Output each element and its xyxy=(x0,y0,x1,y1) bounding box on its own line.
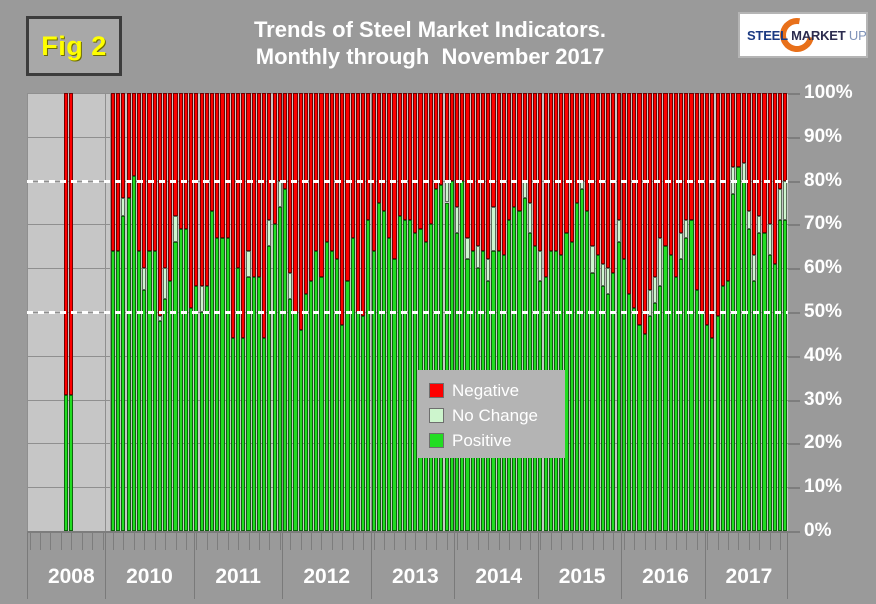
x-axis-minor-tick xyxy=(520,533,521,550)
bar-segment-negative xyxy=(340,93,344,325)
bar-segment-negative xyxy=(299,93,303,330)
y-axis-label: 70% xyxy=(804,213,842,235)
bar-segment-no-change xyxy=(491,207,495,251)
bar-segment-negative xyxy=(200,93,204,286)
bar-segment-positive xyxy=(304,294,308,531)
x-axis-minor-tick xyxy=(196,533,197,550)
bar-segment-negative xyxy=(585,93,589,211)
x-axis: 200820102011201220132014201520162017 xyxy=(27,531,788,604)
x-axis-year-separator xyxy=(282,533,283,599)
x-axis-minor-tick xyxy=(103,533,104,550)
bar-segment-positive xyxy=(288,299,292,531)
x-axis-minor-tick xyxy=(415,533,416,550)
bar-segment-no-change xyxy=(158,316,162,320)
bar-segment-negative xyxy=(111,93,115,251)
bar-segment-negative xyxy=(424,93,428,242)
logo-word-market: MARKET xyxy=(791,28,845,43)
bar-segment-no-change xyxy=(747,211,751,229)
bar-segment-positive xyxy=(575,203,579,532)
x-axis-year-separator xyxy=(371,533,372,599)
bar-segment-negative xyxy=(387,93,391,238)
y-axis-tick xyxy=(788,487,800,489)
logo-word-update: UPDATE xyxy=(849,28,868,43)
y-axis-tick xyxy=(788,400,800,402)
bar-segment-negative xyxy=(64,93,68,395)
bar-segment-positive xyxy=(684,238,688,531)
bar-segment-positive xyxy=(184,229,188,531)
x-axis-minor-tick xyxy=(707,533,708,550)
bar-segment-negative xyxy=(721,93,725,286)
x-axis-minor-tick xyxy=(655,533,656,550)
bar-segment-negative xyxy=(226,93,230,238)
bar-segment-negative xyxy=(439,93,443,185)
bar-segment-positive xyxy=(153,251,157,531)
bar-segment-negative xyxy=(351,93,355,238)
y-axis-tick xyxy=(788,181,800,183)
bar-segment-negative xyxy=(637,93,641,325)
bar-segment-positive xyxy=(132,176,136,531)
x-axis-minor-tick xyxy=(405,533,406,550)
bar-segment-negative xyxy=(153,93,157,251)
x-axis-minor-tick xyxy=(394,533,395,550)
bar-segment-negative xyxy=(559,93,563,255)
x-axis-year-separator xyxy=(194,533,195,599)
bar-segment-negative xyxy=(679,93,683,233)
bar-segment-positive xyxy=(64,395,68,531)
x-axis-year-separator xyxy=(105,533,106,599)
x-axis-year-label: 2016 xyxy=(642,565,689,589)
bar-segment-negative xyxy=(736,93,740,167)
bar-segment-negative xyxy=(194,93,198,286)
bar-segment-positive xyxy=(674,277,678,531)
bar-segment-negative xyxy=(137,93,141,251)
bar-segment-negative xyxy=(304,93,308,294)
x-axis-minor-tick xyxy=(530,533,531,550)
bar-segment-positive xyxy=(434,189,438,531)
x-axis-minor-tick xyxy=(321,533,322,550)
x-axis-minor-tick xyxy=(718,533,719,550)
bar-segment-positive xyxy=(762,233,766,531)
bar-segment-no-change xyxy=(121,198,125,216)
x-axis-year-separator xyxy=(27,533,28,599)
bar-segment-positive xyxy=(137,251,141,531)
x-axis-minor-tick xyxy=(207,533,208,550)
bar-segment-positive xyxy=(189,308,193,531)
bar-segment-negative xyxy=(283,93,287,189)
x-axis-minor-tick xyxy=(332,533,333,550)
bar-segment-negative xyxy=(319,93,323,277)
y-axis-label: 80% xyxy=(804,170,842,192)
bar-segment-positive xyxy=(622,259,626,531)
bar-segment-positive xyxy=(689,220,693,531)
bar-segment-negative xyxy=(669,93,673,255)
bar-segment-positive xyxy=(773,264,777,531)
y-axis-tick xyxy=(788,312,800,314)
bar-segment-negative xyxy=(366,93,370,220)
bar-segment-negative xyxy=(622,93,626,259)
x-axis-minor-tick xyxy=(363,533,364,550)
bar-segment-positive xyxy=(736,167,740,531)
bar-segment-positive xyxy=(366,220,370,531)
x-axis-minor-tick xyxy=(311,533,312,550)
bar-segment-negative xyxy=(293,93,297,312)
page-title: Trends of Steel Market Indicators. Month… xyxy=(150,16,710,70)
bar-segment-no-change xyxy=(163,268,167,299)
bar-segment-positive xyxy=(679,259,683,531)
bar-segment-negative xyxy=(168,93,172,281)
bar-segment-no-change xyxy=(246,251,250,277)
x-axis-minor-tick xyxy=(176,533,177,550)
bar-segment-no-change xyxy=(653,277,657,303)
x-axis-minor-tick xyxy=(259,533,260,550)
bar-segment-negative xyxy=(528,93,532,203)
bar-segment-negative xyxy=(611,93,615,273)
bar-segment-positive xyxy=(252,277,256,531)
legend-swatch-icon xyxy=(429,383,444,398)
bar-segment-negative xyxy=(674,93,678,277)
logo-wordmark: STEEL MARKET UPDATE xyxy=(747,28,868,43)
x-axis-minor-tick xyxy=(61,533,62,550)
x-axis-year-separator xyxy=(454,533,455,599)
bar-segment-positive xyxy=(345,281,349,531)
bar-segment-negative xyxy=(731,93,735,167)
y-axis-tick xyxy=(788,356,800,358)
bar-segment-negative xyxy=(491,93,495,207)
bar-segment-positive xyxy=(283,189,287,531)
bar-segment-positive xyxy=(403,220,407,531)
bar-segment-positive xyxy=(392,259,396,531)
x-axis-minor-tick xyxy=(280,533,281,550)
bar-segment-positive xyxy=(231,338,235,531)
bar-segment-positive xyxy=(768,255,772,531)
bar-segment-no-change xyxy=(528,203,532,234)
x-axis-minor-tick xyxy=(301,533,302,550)
bar-segment-negative xyxy=(768,93,772,224)
x-axis-minor-tick xyxy=(457,533,458,550)
bar-segment-no-change xyxy=(684,220,688,238)
x-axis-year-label: 2015 xyxy=(559,565,606,589)
bar-segment-positive xyxy=(643,334,647,531)
bar-segment-positive xyxy=(309,281,313,531)
x-axis-year-separator xyxy=(705,533,706,599)
steel-market-update-logo: STEEL MARKET UPDATE xyxy=(738,12,868,58)
x-axis-year-separator xyxy=(787,533,788,599)
bar-segment-positive xyxy=(147,251,151,531)
y-axis-label: 50% xyxy=(804,301,842,323)
x-axis-minor-tick xyxy=(770,533,771,550)
x-axis-minor-tick xyxy=(113,533,114,550)
bar-segment-negative xyxy=(403,93,407,220)
x-axis-minor-tick xyxy=(238,533,239,550)
x-axis-year-label: 2013 xyxy=(392,565,439,589)
bar-segment-positive xyxy=(731,194,735,531)
bar-segment-negative xyxy=(330,93,334,251)
bar-segment-positive xyxy=(325,242,329,531)
bar-segment-negative xyxy=(241,93,245,338)
x-axis-minor-tick xyxy=(447,533,448,550)
x-axis-minor-tick xyxy=(624,533,625,550)
x-axis-minor-tick xyxy=(155,533,156,550)
bar-segment-positive xyxy=(716,316,720,531)
bar-segment-negative xyxy=(309,93,313,281)
x-axis-minor-tick xyxy=(728,533,729,550)
bar-segment-negative xyxy=(570,93,574,242)
bar-segment-positive xyxy=(523,198,527,531)
x-axis-minor-tick xyxy=(40,533,41,550)
bar-segment-negative xyxy=(648,93,652,290)
bar-segment-no-change xyxy=(601,264,605,286)
bar-segment-negative xyxy=(783,93,787,181)
bar-segment-positive xyxy=(783,220,787,531)
x-axis-minor-tick xyxy=(478,533,479,550)
bar-segment-no-change xyxy=(278,181,282,207)
x-axis-minor-tick xyxy=(269,533,270,550)
bar-segment-negative xyxy=(564,93,568,233)
x-axis-ruler xyxy=(27,531,788,561)
bar-segment-no-change xyxy=(606,268,610,294)
x-axis-year-separator xyxy=(621,533,622,599)
x-axis-minor-tick xyxy=(92,533,93,550)
bar-segment-positive xyxy=(585,211,589,531)
legend-label: Positive xyxy=(452,431,512,451)
bar-segment-negative xyxy=(184,93,188,229)
bar-segment-negative xyxy=(658,93,662,238)
legend-label: Negative xyxy=(452,381,519,401)
bar-segment-negative xyxy=(538,93,542,251)
x-axis-minor-tick xyxy=(186,533,187,550)
bar-segment-negative xyxy=(460,93,464,181)
x-axis-minor-tick xyxy=(374,533,375,550)
x-axis-minor-tick xyxy=(436,533,437,550)
bar-segment-positive xyxy=(726,281,730,531)
bar-segment-positive xyxy=(377,203,381,532)
plot-area xyxy=(27,93,788,531)
bar-segment-negative xyxy=(575,93,579,203)
bar-segment-positive xyxy=(314,251,318,531)
bar-segment-positive xyxy=(200,312,204,531)
reference-line-80 xyxy=(27,180,788,183)
bar-segment-positive xyxy=(215,238,219,531)
bar-segment-positive xyxy=(158,321,162,531)
bar-segment-positive xyxy=(236,268,240,531)
bar-segment-negative xyxy=(617,93,621,220)
bar-segment-negative xyxy=(455,93,459,207)
bar-segment-positive xyxy=(226,238,230,531)
bar-segment-positive xyxy=(778,220,782,531)
bar-segment-negative xyxy=(392,93,396,259)
bar-segment-no-change xyxy=(752,255,756,281)
chart-legend: NegativeNo ChangePositive xyxy=(417,370,565,458)
x-axis-minor-tick xyxy=(738,533,739,550)
x-axis-year-separator xyxy=(538,533,539,599)
bar-segment-positive xyxy=(705,325,709,531)
bar-segment-no-change xyxy=(590,246,594,272)
bar-segment-negative xyxy=(179,93,183,229)
bar-segment-no-change xyxy=(486,259,490,281)
bar-segment-positive xyxy=(570,242,574,531)
y-axis-label: 40% xyxy=(804,345,842,367)
legend-label: No Change xyxy=(452,406,538,426)
bar-segment-negative xyxy=(684,93,688,220)
bar-segment-positive xyxy=(710,338,714,531)
bar-segment-no-change xyxy=(523,181,527,199)
bar-segment-positive xyxy=(653,303,657,531)
bar-segment-negative xyxy=(262,93,266,338)
bar-segment-no-change xyxy=(142,268,146,290)
bar-segment-positive xyxy=(267,246,271,531)
bar-segment-positive xyxy=(742,181,746,531)
bar-segment-positive xyxy=(721,286,725,531)
bar-segment-negative xyxy=(580,93,584,181)
bar-segment-positive xyxy=(299,330,303,531)
bar-segment-negative xyxy=(345,93,349,281)
bar-segment-positive xyxy=(168,281,172,531)
bar-segment-negative xyxy=(710,93,714,338)
bar-segment-positive xyxy=(387,238,391,531)
bar-segment-negative xyxy=(377,93,381,203)
bar-segment-positive xyxy=(220,238,224,531)
x-axis-year-label: 2017 xyxy=(726,565,773,589)
y-axis-label: 10% xyxy=(804,476,842,498)
y-axis-label: 90% xyxy=(804,126,842,148)
bar-segment-negative xyxy=(643,93,647,334)
x-axis-minor-tick xyxy=(217,533,218,550)
bar-segment-positive xyxy=(262,338,266,531)
bar-segment-no-change xyxy=(617,220,621,242)
bar-segment-positive xyxy=(173,242,177,531)
bar-segment-positive xyxy=(617,242,621,531)
x-axis-minor-tick xyxy=(249,533,250,550)
y-axis-label: 0% xyxy=(804,520,831,542)
bar-segment-negative xyxy=(747,93,751,211)
bar-segment-negative xyxy=(533,93,537,246)
bar-segment-negative xyxy=(231,93,235,338)
bar-segment-negative xyxy=(471,93,475,251)
bar-segment-negative xyxy=(512,93,516,207)
bar-segment-positive xyxy=(460,181,464,531)
x-axis-minor-tick xyxy=(613,533,614,550)
x-axis-minor-tick xyxy=(123,533,124,550)
bar-segment-negative xyxy=(486,93,490,259)
y-axis-tick xyxy=(788,224,800,226)
x-axis-minor-tick xyxy=(228,533,229,550)
bar-segment-negative xyxy=(742,93,746,163)
bar-segment-negative xyxy=(246,93,250,251)
legend-swatch-icon xyxy=(429,433,444,448)
bar-segment-positive xyxy=(194,286,198,531)
bar-segment-positive xyxy=(210,211,214,531)
bar-segment-positive xyxy=(241,338,245,531)
bar-segment-negative xyxy=(554,93,558,251)
bar-segment-negative xyxy=(361,93,365,316)
bar-segment-no-change xyxy=(768,224,772,255)
bar-segment-negative xyxy=(705,93,709,325)
bar-segment-positive xyxy=(596,255,600,531)
x-axis-minor-tick xyxy=(572,533,573,550)
bar-segment-negative xyxy=(252,93,256,277)
bar-segment-positive xyxy=(752,281,756,531)
y-axis-tick xyxy=(788,93,800,95)
bar-segment-negative xyxy=(356,93,360,312)
bar-segment-negative xyxy=(445,93,449,181)
x-axis-minor-tick xyxy=(384,533,385,550)
bar-segment-no-change xyxy=(455,207,459,233)
bar-segment-negative xyxy=(476,93,480,246)
bar-segment-negative xyxy=(778,93,782,189)
bar-segment-positive xyxy=(669,255,673,531)
bar-segment-negative xyxy=(434,93,438,189)
bar-segment-positive xyxy=(205,286,209,531)
bar-segment-positive xyxy=(398,216,402,531)
bar-segment-positive xyxy=(408,220,412,531)
bar-segment-positive xyxy=(632,308,636,531)
bar-segment-no-change xyxy=(538,251,542,282)
bar-segment-negative xyxy=(695,93,699,290)
bar-segment-no-change xyxy=(658,238,662,286)
bar-segment-positive xyxy=(257,277,261,531)
legend-item: No Change xyxy=(429,403,565,428)
bar-segment-negative xyxy=(757,93,761,216)
bar-segment-positive xyxy=(439,185,443,531)
bar-segment-positive xyxy=(293,312,297,531)
bar-segment-negative xyxy=(267,93,271,220)
bar-segment-negative xyxy=(158,93,162,316)
bar-segment-negative xyxy=(544,93,548,277)
bar-segment-positive xyxy=(606,294,610,531)
bar-segment-negative xyxy=(481,93,485,251)
bar-segment-positive xyxy=(512,207,516,531)
x-axis-minor-tick xyxy=(134,533,135,550)
bar-segment-positive xyxy=(69,395,73,531)
x-axis-minor-tick xyxy=(540,533,541,550)
bar-segment-negative xyxy=(596,93,600,255)
bar-segment-positive xyxy=(278,207,282,531)
x-axis-year-label: 2008 xyxy=(48,565,95,589)
title-line-1: Trends of Steel Market Indicators. xyxy=(150,16,710,43)
bar-segment-negative xyxy=(653,93,657,277)
bar-segment-positive xyxy=(163,299,167,531)
bar-segment-negative xyxy=(726,93,730,281)
bar-segment-positive xyxy=(648,316,652,531)
figure-badge-label: Fig 2 xyxy=(41,31,107,62)
bar-segment-negative xyxy=(278,93,282,181)
legend-item: Positive xyxy=(429,428,565,453)
x-axis-year-label: 2012 xyxy=(303,565,350,589)
bar-segment-negative xyxy=(335,93,339,259)
figure-badge: Fig 2 xyxy=(26,16,122,76)
bar-segment-positive xyxy=(372,251,376,531)
bar-segment-positive xyxy=(340,325,344,531)
bar-segment-negative xyxy=(69,93,73,395)
bar-segment-negative xyxy=(116,93,120,251)
bar-segment-no-change xyxy=(267,220,271,246)
bar-segment-positive xyxy=(601,286,605,531)
x-axis-minor-tick xyxy=(697,533,698,550)
bar-segment-negative xyxy=(189,93,193,308)
bar-segment-no-change xyxy=(173,216,177,242)
bar-segment-negative xyxy=(418,93,422,229)
bar-segment-positive xyxy=(564,233,568,531)
bar-segment-negative xyxy=(273,93,277,224)
bar-segment-positive xyxy=(127,198,131,531)
bar-segment-negative xyxy=(502,93,506,255)
bar-segment-negative xyxy=(762,93,766,233)
bar-segment-negative xyxy=(257,93,261,277)
x-axis-minor-tick xyxy=(645,533,646,550)
bar-segment-positive xyxy=(273,224,277,531)
x-axis-minor-tick xyxy=(144,533,145,550)
x-axis-minor-tick xyxy=(30,533,31,550)
